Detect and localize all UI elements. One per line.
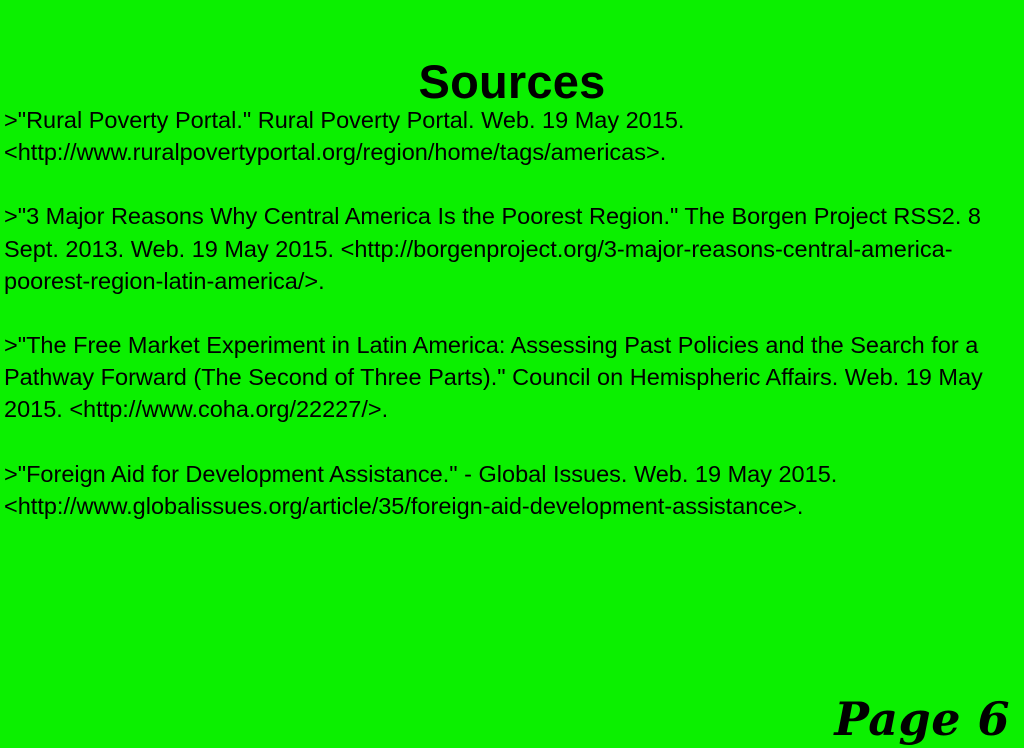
citation-item: >"Foreign Aid for Development Assistance… (4, 458, 1016, 522)
page-title: Sources (0, 57, 1024, 106)
citation-item: >"Rural Poverty Portal." Rural Poverty P… (4, 104, 1016, 168)
presentation-slide: Sources >"Rural Poverty Portal." Rural P… (0, 0, 1024, 748)
sources-list: >"Rural Poverty Portal." Rural Poverty P… (4, 104, 1016, 522)
citation-item: >"3 Major Reasons Why Central America Is… (4, 200, 1016, 297)
citation-item: >"The Free Market Experiment in Latin Am… (4, 329, 1016, 426)
page-number-label: Page 6 (834, 696, 1010, 742)
